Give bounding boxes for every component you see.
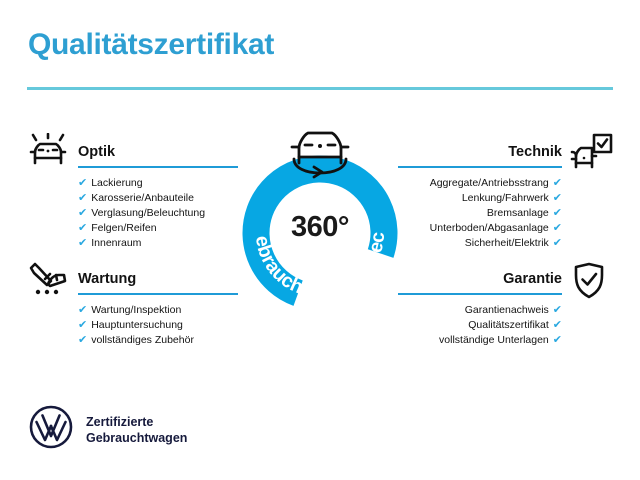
section-wartung: Wartung ✔Wartung/Inspektion ✔Hauptunters…: [78, 272, 238, 348]
section-heading: Wartung: [78, 272, 238, 288]
list-item: ✔Verglasung/Beleuchtung: [78, 206, 238, 221]
list-item-label: vollständige Unterlagen: [439, 334, 549, 346]
list-item: Aggregate/Antriebsstrang✔: [398, 176, 562, 191]
check-icon: ✔: [78, 318, 87, 333]
list-item: Garantienachweis✔: [398, 303, 562, 318]
list-item-label: Garantienachweis: [465, 304, 549, 316]
check-icon: ✔: [553, 236, 562, 251]
list-item: ✔Felgen/Reifen: [78, 221, 238, 236]
section-heading: Optik: [78, 145, 238, 161]
car-wrench-icon: [26, 262, 70, 307]
section-list: Aggregate/Antriebsstrang✔ Lenkung/Fahrwe…: [398, 176, 562, 251]
check-icon: ✔: [78, 303, 87, 318]
page-title: Qualitätszertifikat: [28, 30, 274, 60]
list-item-label: Aggregate/Antriebsstrang: [430, 177, 549, 189]
badge-degrees-label: 360°: [225, 211, 415, 244]
list-item-label: Felgen/Reifen: [91, 222, 156, 234]
section-heading: Technik: [398, 145, 562, 161]
list-item-label: Unterboden/Abgasanlage: [430, 222, 549, 234]
section-heading: Garantie: [398, 272, 562, 288]
list-item: ✔vollständiges Zubehör: [78, 333, 238, 348]
list-item: Sicherheit/Elektrik✔: [398, 236, 562, 251]
list-item-label: vollständiges Zubehör: [91, 334, 194, 346]
check-icon: ✔: [553, 333, 562, 348]
section-divider: [78, 293, 238, 296]
list-item: Qualitätszertifikat✔: [398, 318, 562, 333]
list-item-label: Qualitätszertifikat: [468, 319, 549, 331]
section-divider: [398, 166, 562, 169]
footer-brand-text: Zertifizierte Gebrauchtwagen: [86, 414, 187, 446]
check-icon: ✔: [553, 176, 562, 191]
section-list: Garantienachweis✔ Qualitätszertifikat✔ v…: [398, 303, 562, 348]
car-shine-icon: [26, 133, 70, 178]
section-list: ✔Lackierung ✔Karosserie/Anbauteile ✔Verg…: [78, 176, 238, 251]
vw-logo-icon: [28, 404, 74, 455]
section-divider: [398, 293, 562, 296]
list-item-label: Verglasung/Beleuchtung: [91, 207, 205, 219]
check-icon: ✔: [553, 303, 562, 318]
header-divider: [27, 87, 613, 90]
list-item-label: Innenraum: [91, 237, 141, 249]
check-icon: ✔: [553, 221, 562, 236]
section-list: ✔Wartung/Inspektion ✔Hauptuntersuchung ✔…: [78, 303, 238, 348]
check-icon: ✔: [78, 206, 87, 221]
car-checkbox-icon: [568, 133, 614, 178]
list-item-label: Hauptuntersuchung: [91, 319, 183, 331]
list-item: vollständige Unterlagen✔: [398, 333, 562, 348]
list-item-label: Karosserie/Anbauteile: [91, 192, 194, 204]
check-icon: ✔: [78, 191, 87, 206]
list-item: Unterboden/Abgasanlage✔: [398, 221, 562, 236]
section-optik: Optik ✔Lackierung ✔Karosserie/Anbauteile…: [78, 145, 238, 251]
list-item: Lenkung/Fahrwerk✔: [398, 191, 562, 206]
section-garantie: Garantie Garantienachweis✔ Qualitätszert…: [398, 272, 562, 348]
shield-check-icon: [572, 262, 606, 305]
car-rotation-icon: [278, 121, 362, 186]
section-technik: Technik Aggregate/Antriebsstrang✔ Lenkun…: [398, 145, 562, 251]
list-item: ✔Hauptuntersuchung: [78, 318, 238, 333]
check-icon: ✔: [553, 206, 562, 221]
check-icon: ✔: [78, 333, 87, 348]
check-icon: ✔: [553, 191, 562, 206]
list-item: Bremsanlage✔: [398, 206, 562, 221]
360-check-badge: Gebrauchtwagen-Check 360°: [225, 125, 415, 315]
list-item: ✔Karosserie/Anbauteile: [78, 191, 238, 206]
list-item-label: Wartung/Inspektion: [91, 304, 181, 316]
footer-brand: Zertifizierte Gebrauchtwagen: [28, 404, 187, 455]
list-item-label: Lackierung: [91, 177, 142, 189]
check-icon: ✔: [78, 221, 87, 236]
list-item: ✔Lackierung: [78, 176, 238, 191]
list-item-label: Lenkung/Fahrwerk: [462, 192, 549, 204]
list-item-label: Sicherheit/Elektrik: [465, 237, 549, 249]
check-icon: ✔: [553, 318, 562, 333]
list-item: ✔Wartung/Inspektion: [78, 303, 238, 318]
check-icon: ✔: [78, 176, 87, 191]
check-icon: ✔: [78, 236, 87, 251]
list-item: ✔Innenraum: [78, 236, 238, 251]
section-divider: [78, 166, 238, 169]
list-item-label: Bremsanlage: [487, 207, 549, 219]
